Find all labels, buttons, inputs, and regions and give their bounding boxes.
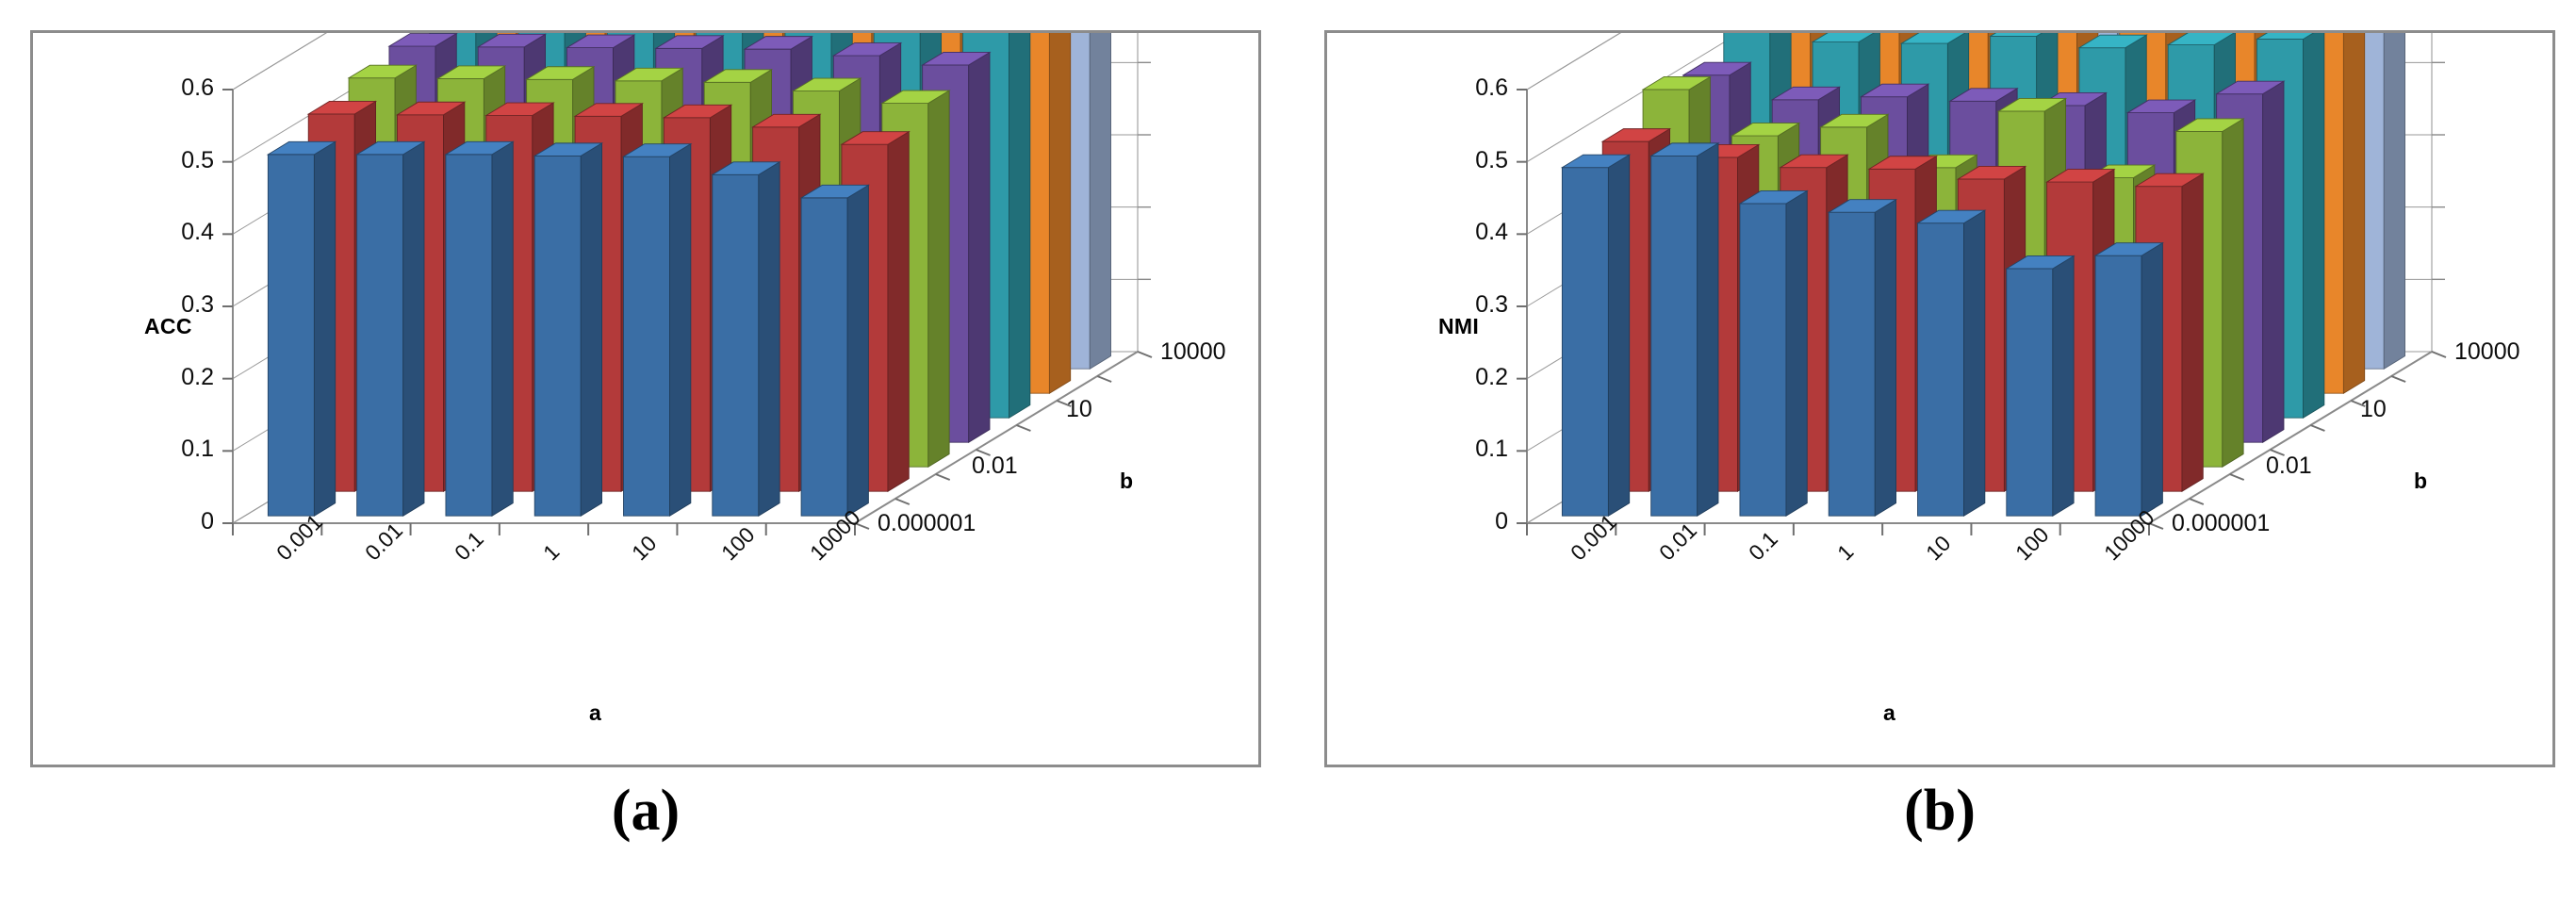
depth-tick-label: 10	[1066, 396, 1092, 423]
y-axis-title-b: b	[1120, 469, 1133, 494]
plot-area-nmi: NMI a b 00.10.20.30.40.50.60.0010.010.11…	[1327, 33, 2552, 765]
plot-area-acc: ACC a b 00.10.20.30.40.50.60.0010.010.11…	[33, 33, 1258, 765]
depth-tick-label: 0.000001	[878, 510, 976, 537]
x-axis-title-a: a	[589, 700, 601, 726]
depth-tick-label: 10	[2360, 396, 2387, 423]
z-tick-label: 0.5	[140, 147, 214, 174]
panel-caption-a: (a)	[30, 779, 1261, 843]
z-tick-label: 0.1	[140, 436, 214, 463]
figure-sheet: ACC a b 00.10.20.30.40.50.60.0010.010.11…	[0, 0, 2576, 905]
z-tick-label: 0	[140, 508, 214, 535]
z-tick-label: 0.2	[1435, 364, 1508, 391]
z-tick-label: 0.3	[1435, 291, 1508, 319]
chart-panel-a: ACC a b 00.10.20.30.40.50.60.0010.010.11…	[30, 30, 1261, 767]
depth-tick-label: 0.01	[972, 452, 1018, 480]
z-tick-label: 0.4	[140, 219, 214, 246]
z-tick-label: 0.1	[1435, 436, 1508, 463]
panel-caption-b: (b)	[1324, 779, 2555, 843]
z-tick-label: 0.5	[1435, 147, 1508, 174]
z-tick-label: 0.6	[1435, 74, 1508, 102]
z-tick-label: 0.4	[1435, 219, 1508, 246]
chart-panel-b: NMI a b 00.10.20.30.40.50.60.0010.010.11…	[1324, 30, 2555, 767]
z-tick-label: 0.2	[140, 364, 214, 391]
depth-tick-label: 0.000001	[2172, 510, 2270, 537]
depth-tick-label: 10000	[1160, 338, 1226, 366]
z-tick-label: 0	[1435, 508, 1508, 535]
z-tick-label: 0.3	[140, 291, 214, 319]
depth-tick-label: 0.01	[2266, 452, 2312, 480]
y-axis-title-b-2: b	[2414, 469, 2427, 494]
x-axis-title-a-2: a	[1883, 700, 1895, 726]
z-tick-label: 0.6	[140, 74, 214, 102]
depth-tick-label: 10000	[2454, 338, 2520, 366]
